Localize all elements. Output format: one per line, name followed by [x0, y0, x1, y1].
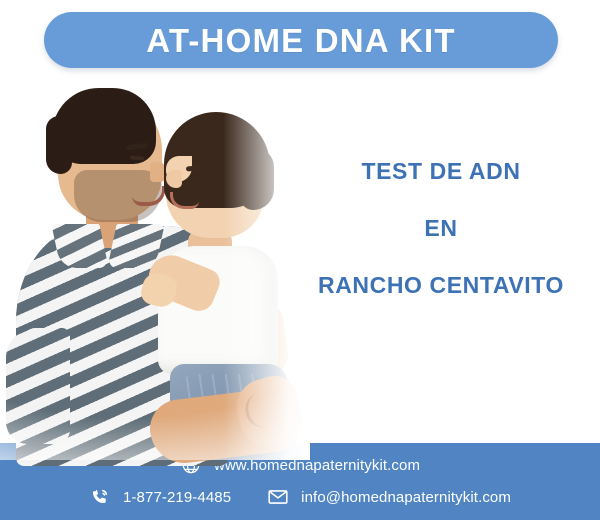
footer-phone-label: 1-877-219-4485: [123, 490, 231, 505]
man-shoulder: [6, 328, 70, 444]
footer-email-item[interactable]: info@homednapaternitykit.com: [267, 486, 511, 508]
phone-icon: [89, 486, 111, 508]
envelope-icon: [267, 486, 289, 508]
father-and-child-photo: [0, 78, 310, 460]
header-banner: AT-HOME DNA KIT: [44, 12, 558, 68]
page-title: AT-HOME DNA KIT: [146, 24, 455, 57]
man-hair: [52, 88, 156, 164]
headline-line-1: TEST DE ADN: [296, 160, 586, 183]
footer-phone-item[interactable]: 1-877-219-4485: [89, 486, 231, 508]
man-shirt-collar: [56, 224, 160, 270]
headline-line-2: EN: [296, 217, 586, 240]
photo-stage: [0, 78, 310, 460]
headline-block: TEST DE ADN EN RANCHO CENTAVITO: [296, 160, 586, 297]
man-smile: [132, 186, 165, 206]
collar-left: [51, 224, 108, 268]
child-nose: [166, 170, 182, 188]
poster-canvas: AT-HOME DNA KIT TEST DE ADN EN RANCHO CE…: [0, 0, 600, 520]
headline-line-3: RANCHO CENTAVITO: [296, 274, 586, 297]
footer-contact-row: 1-877-219-4485 info@homednapaternitykit.…: [0, 486, 600, 508]
footer-email-label: info@homednapaternitykit.com: [301, 490, 511, 505]
